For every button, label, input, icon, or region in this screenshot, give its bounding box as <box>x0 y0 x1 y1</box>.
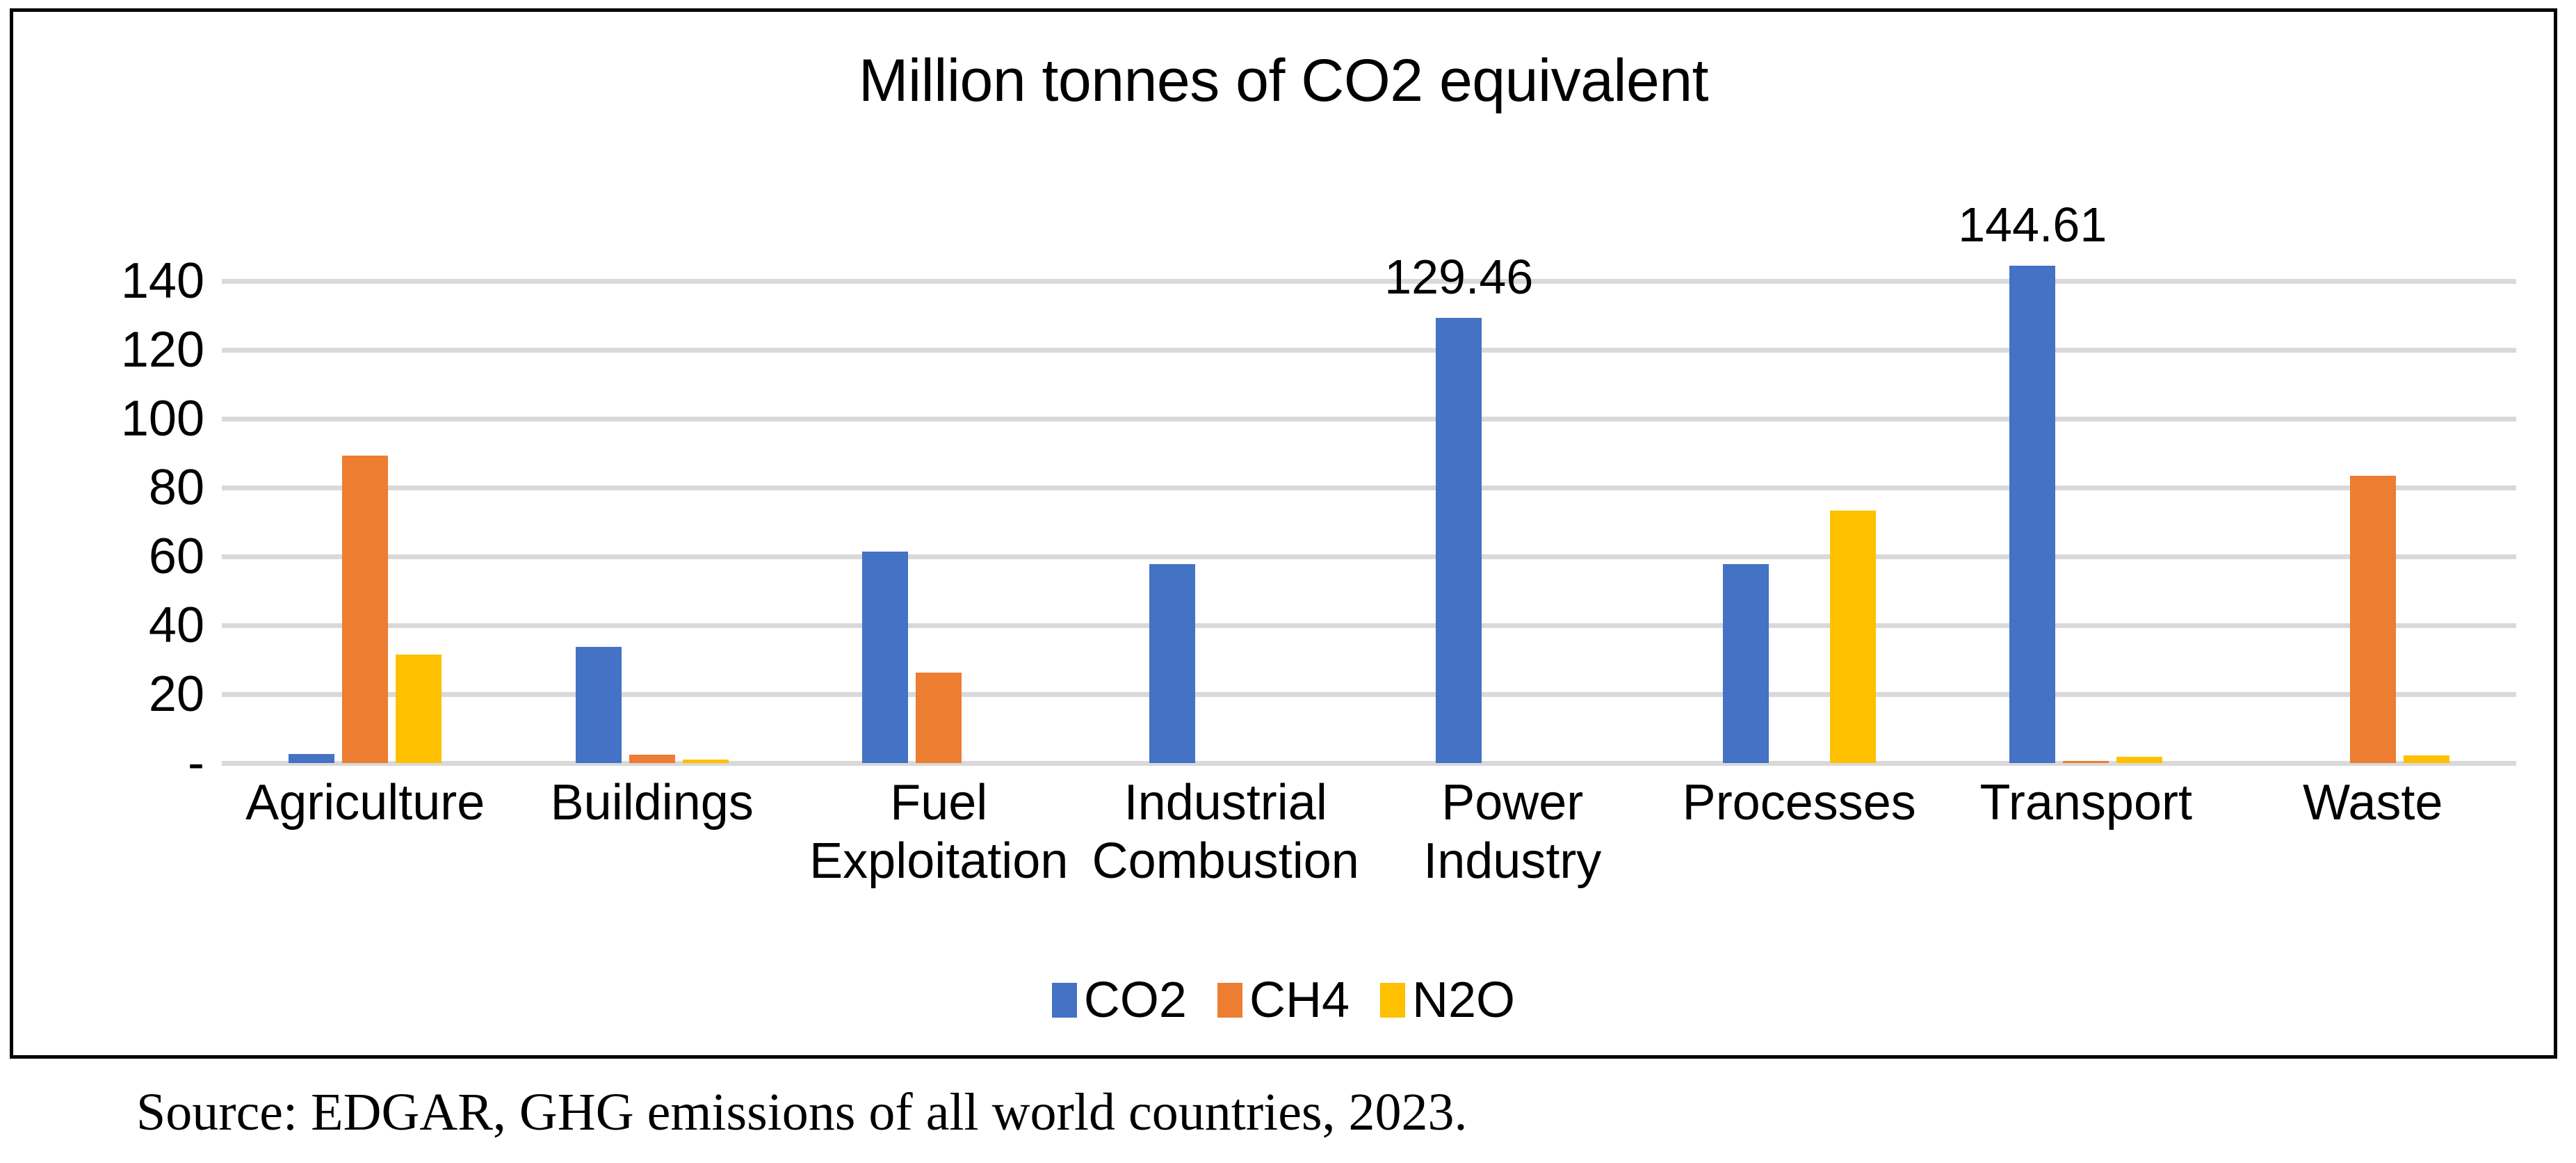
x-axis-label-power-industry: PowerIndustry <box>1369 774 1656 890</box>
x-axis-label-line: Exploitation <box>795 833 1083 891</box>
bar-group <box>2296 247 2449 763</box>
x-axis-label-buildings: Buildings <box>509 774 796 833</box>
legend-label: N2O <box>1412 975 1515 1025</box>
legend-item-ch4[interactable]: CH4 <box>1217 975 1350 1025</box>
bar-co2-buildings[interactable] <box>576 647 622 763</box>
bar-ch4-buildings[interactable] <box>629 755 675 763</box>
bar-ch4-waste[interactable] <box>2350 476 2396 763</box>
legend-item-n2o[interactable]: N2O <box>1380 975 1515 1025</box>
x-axis-label-fuel-exploitation: FuelExploitation <box>795 774 1083 890</box>
y-axis-tick-label: 100 <box>121 394 204 444</box>
bar-co2-processes[interactable] <box>1723 564 1769 763</box>
y-axis-tick-label: 140 <box>121 256 204 306</box>
bar-group <box>1149 247 1302 763</box>
y-axis-tick-label: 40 <box>149 600 204 650</box>
bar-co2-power-industry[interactable]: 129.46 <box>1436 318 1482 763</box>
y-axis-tick-label: 60 <box>149 531 204 581</box>
bar-series-layer: 129.46144.61 <box>222 247 2516 763</box>
bar-ch4-transport[interactable] <box>2063 761 2109 763</box>
x-axis-label-line: Agriculture <box>222 774 509 833</box>
bar-group: 129.46 <box>1436 247 1589 763</box>
bar-co2-fuel-exploitation[interactable] <box>862 552 908 763</box>
y-axis-tick-label: 120 <box>121 325 204 375</box>
bar-n2o-transport[interactable] <box>2116 757 2162 763</box>
bar-group <box>1723 247 1876 763</box>
bar-n2o-processes[interactable] <box>1830 511 1876 763</box>
bar-n2o-waste[interactable] <box>2404 755 2449 763</box>
bar-co2-industrial-combustion[interactable] <box>1149 564 1195 763</box>
legend-swatch-co2-icon <box>1052 983 1077 1018</box>
bar-co2-transport[interactable]: 144.61 <box>2009 266 2055 763</box>
y-axis-tick-label: - <box>188 738 204 788</box>
x-axis-category-labels: AgricultureBuildingsFuelExploitationIndu… <box>222 774 2516 934</box>
chart-frame: Million tonnes of CO2 equivalent -204060… <box>10 8 2557 1059</box>
source-note: Source: EDGAR, GHG emissions of all worl… <box>136 1082 1468 1143</box>
bar-group <box>862 247 1015 763</box>
x-axis-label-agriculture: Agriculture <box>222 774 509 833</box>
chart-title: Million tonnes of CO2 equivalent <box>13 47 2554 115</box>
x-axis-label-line: Fuel <box>795 774 1083 833</box>
x-axis-label-line: Industry <box>1369 833 1656 891</box>
legend-swatch-n2o-icon <box>1380 983 1405 1018</box>
y-axis-tick-label: 80 <box>149 463 204 513</box>
bar-value-label: 129.46 <box>1384 252 1533 301</box>
x-axis-label-industrial-combustion: IndustrialCombustion <box>1083 774 1370 890</box>
x-axis-label-line: Waste <box>2230 774 2517 833</box>
bar-ch4-fuel-exploitation[interactable] <box>916 673 962 763</box>
bar-value-label: 144.61 <box>1958 200 2107 249</box>
bar-group: 144.61 <box>2009 247 2162 763</box>
legend-label: CH4 <box>1249 975 1350 1025</box>
bar-co2-agriculture[interactable] <box>289 754 334 763</box>
x-axis-label-line: Processes <box>1656 774 1943 833</box>
x-axis-label-processes: Processes <box>1656 774 1943 833</box>
x-axis-label-waste: Waste <box>2230 774 2517 833</box>
chart-figure: Million tonnes of CO2 equivalent -204060… <box>0 0 2576 1163</box>
bar-n2o-agriculture[interactable] <box>396 655 442 763</box>
y-axis: -20406080100120140 <box>55 247 204 763</box>
x-axis-label-line: Buildings <box>509 774 796 833</box>
legend-item-co2[interactable]: CO2 <box>1052 975 1187 1025</box>
y-axis-tick-label: 20 <box>149 669 204 719</box>
chart-legend: CO2CH4N2O <box>13 975 2554 1025</box>
bar-n2o-buildings[interactable] <box>683 760 729 763</box>
x-axis-label-line: Combustion <box>1083 833 1370 891</box>
bar-group <box>576 247 729 763</box>
bar-group <box>289 247 442 763</box>
x-axis-label-line: Power <box>1369 774 1656 833</box>
x-axis-label-line: Transport <box>1943 774 2230 833</box>
x-axis-label-transport: Transport <box>1943 774 2230 833</box>
bar-ch4-agriculture[interactable] <box>342 456 388 763</box>
legend-label: CO2 <box>1084 975 1187 1025</box>
x-axis-label-line: Industrial <box>1083 774 1370 833</box>
legend-swatch-ch4-icon <box>1217 983 1242 1018</box>
